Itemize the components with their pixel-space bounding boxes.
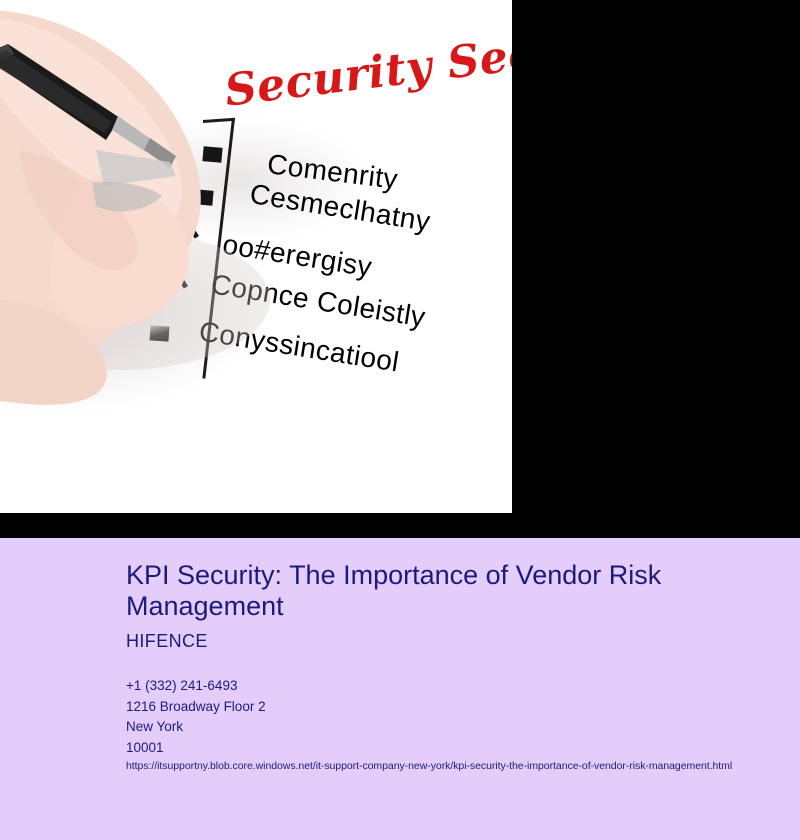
contact-city: New York xyxy=(126,717,266,738)
brand-name: HIFENCE xyxy=(126,631,208,652)
hand-with-pen-illustration xyxy=(0,0,512,513)
contact-address-line1: 1216 Broadway Floor 2 xyxy=(126,697,266,718)
info-panel: KPI Security: The Importance of Vendor R… xyxy=(0,538,800,840)
contact-phone[interactable]: +1 (332) 241-6493 xyxy=(126,676,266,697)
source-url[interactable]: https://itsupportny.blob.core.windows.ne… xyxy=(126,760,732,772)
contact-postal-code: 10001 xyxy=(126,738,266,759)
photo-area: Security Seci Comenrity Cesmeclhatny oo#… xyxy=(0,0,800,538)
page-title: KPI Security: The Importance of Vendor R… xyxy=(126,560,726,622)
checklist-photo: Security Seci Comenrity Cesmeclhatny oo#… xyxy=(0,0,512,513)
contact-block: +1 (332) 241-6493 1216 Broadway Floor 2 … xyxy=(126,676,266,758)
